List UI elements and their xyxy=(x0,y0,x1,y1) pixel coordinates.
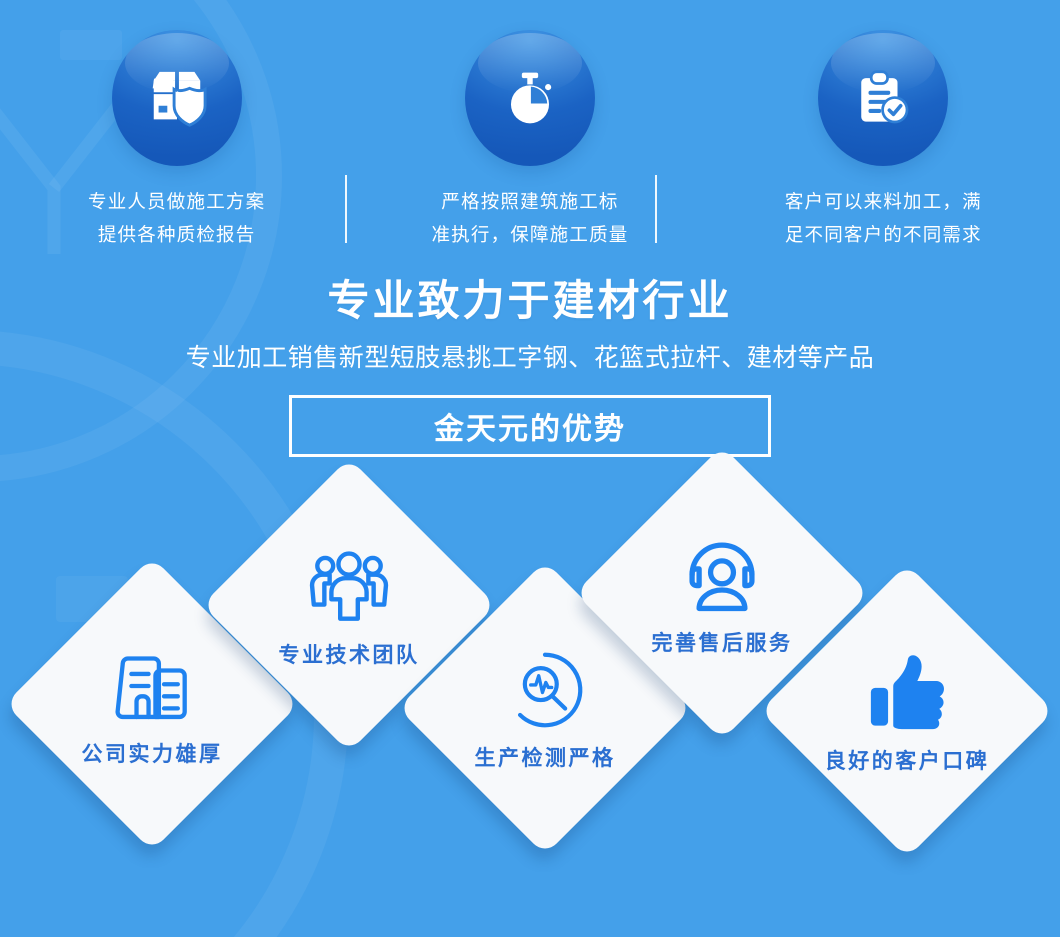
advantage-card-4[interactable]: 良好的客户口碑 xyxy=(760,564,1054,858)
advantage-card-content-3: 完善售后服务 xyxy=(618,489,826,697)
advantage-card-content-0: 公司实力雄厚 xyxy=(48,600,256,808)
clipboard-check-icon xyxy=(854,69,912,127)
advantage-card-content-1: 专业技术团队 xyxy=(245,501,453,709)
advantage-label-1: 专业技术团队 xyxy=(279,639,420,669)
advantage-icon-wrap-4 xyxy=(861,647,953,739)
inspection-magnifier-icon xyxy=(503,648,587,732)
advantage-icon-wrap-3 xyxy=(676,529,768,621)
package-shield-icon xyxy=(146,67,208,129)
advantages-row: 公司实力雄厚 xyxy=(0,0,1060,937)
advantage-label-0: 公司实力雄厚 xyxy=(82,738,223,768)
building-icon xyxy=(109,643,195,729)
advantage-label-3: 完善售后服务 xyxy=(652,627,793,657)
promo-banner: 专业人员做施工方案 提供各种质检报告 严格按照建筑施工标 准执行，保障施工质量 xyxy=(0,0,1060,937)
advantage-label-2: 生产检测严格 xyxy=(475,742,616,772)
advantage-card-content-4: 良好的客户口碑 xyxy=(803,607,1011,815)
team-people-icon xyxy=(305,543,393,631)
advantage-icon-wrap-1 xyxy=(303,541,395,633)
advantage-label-4: 良好的客户口碑 xyxy=(825,745,990,775)
advantage-icon-wrap-2 xyxy=(499,644,591,736)
headset-support-icon xyxy=(678,531,766,619)
thumbs-up-icon xyxy=(864,650,950,736)
advantage-icon-wrap-0 xyxy=(106,640,198,732)
stopwatch-icon xyxy=(501,69,559,127)
